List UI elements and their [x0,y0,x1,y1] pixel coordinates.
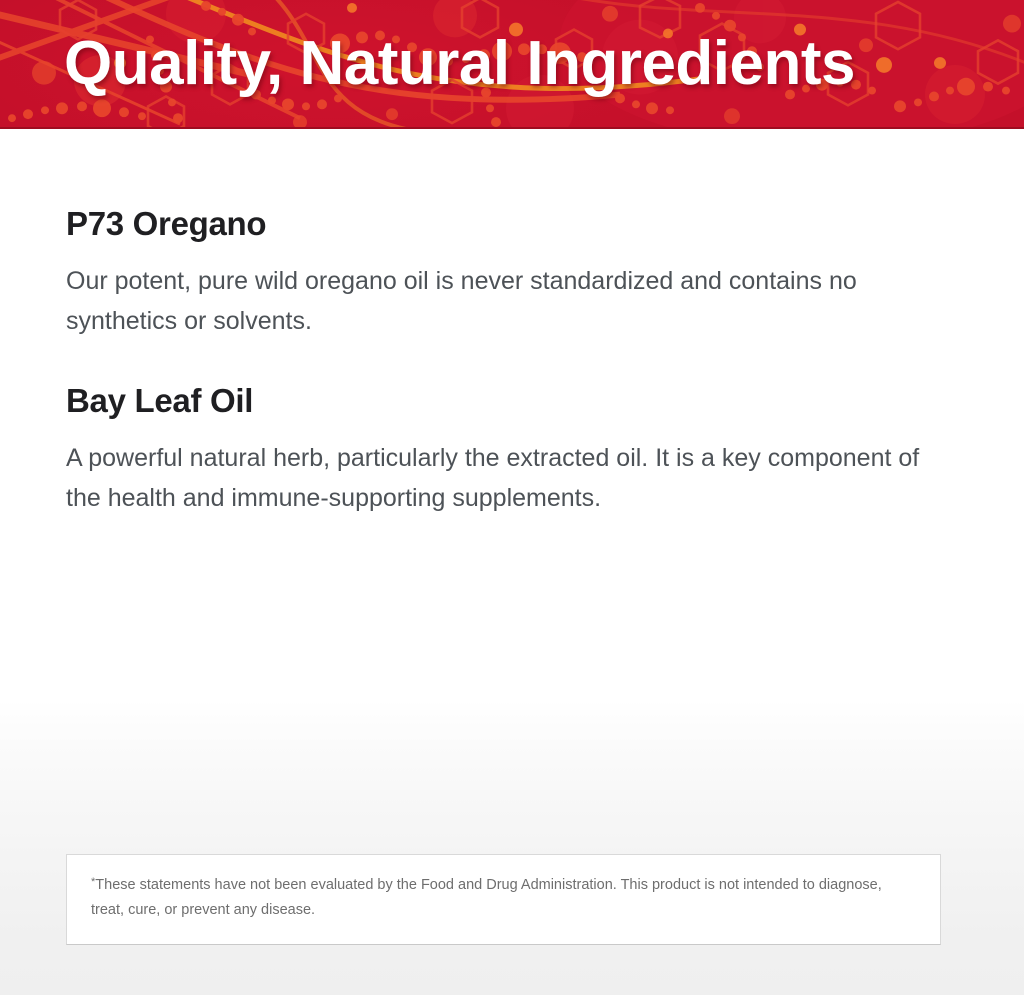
ingredient-description: A powerful natural herb, particularly th… [66,438,946,519]
ingredient-section-p73-oregano: P73 Oregano Our potent, pure wild oregan… [66,205,956,342]
ingredient-description: Our potent, pure wild oregano oil is nev… [66,261,946,342]
fda-disclaimer-box: *These statements have not been evaluate… [66,854,941,945]
hero-banner: Quality, Natural Ingredients [0,0,1024,129]
ingredient-heading: P73 Oregano [66,205,956,243]
ingredients-content: P73 Oregano Our potent, pure wild oregan… [66,205,956,519]
disclaimer-text: *These statements have not been evaluate… [91,873,916,924]
ingredient-heading: Bay Leaf Oil [66,382,956,420]
page-title: Quality, Natural Ingredients [64,33,855,95]
disclaimer-body: These statements have not been evaluated… [91,877,882,918]
ingredient-section-bay-leaf-oil: Bay Leaf Oil A powerful natural herb, pa… [66,382,956,519]
